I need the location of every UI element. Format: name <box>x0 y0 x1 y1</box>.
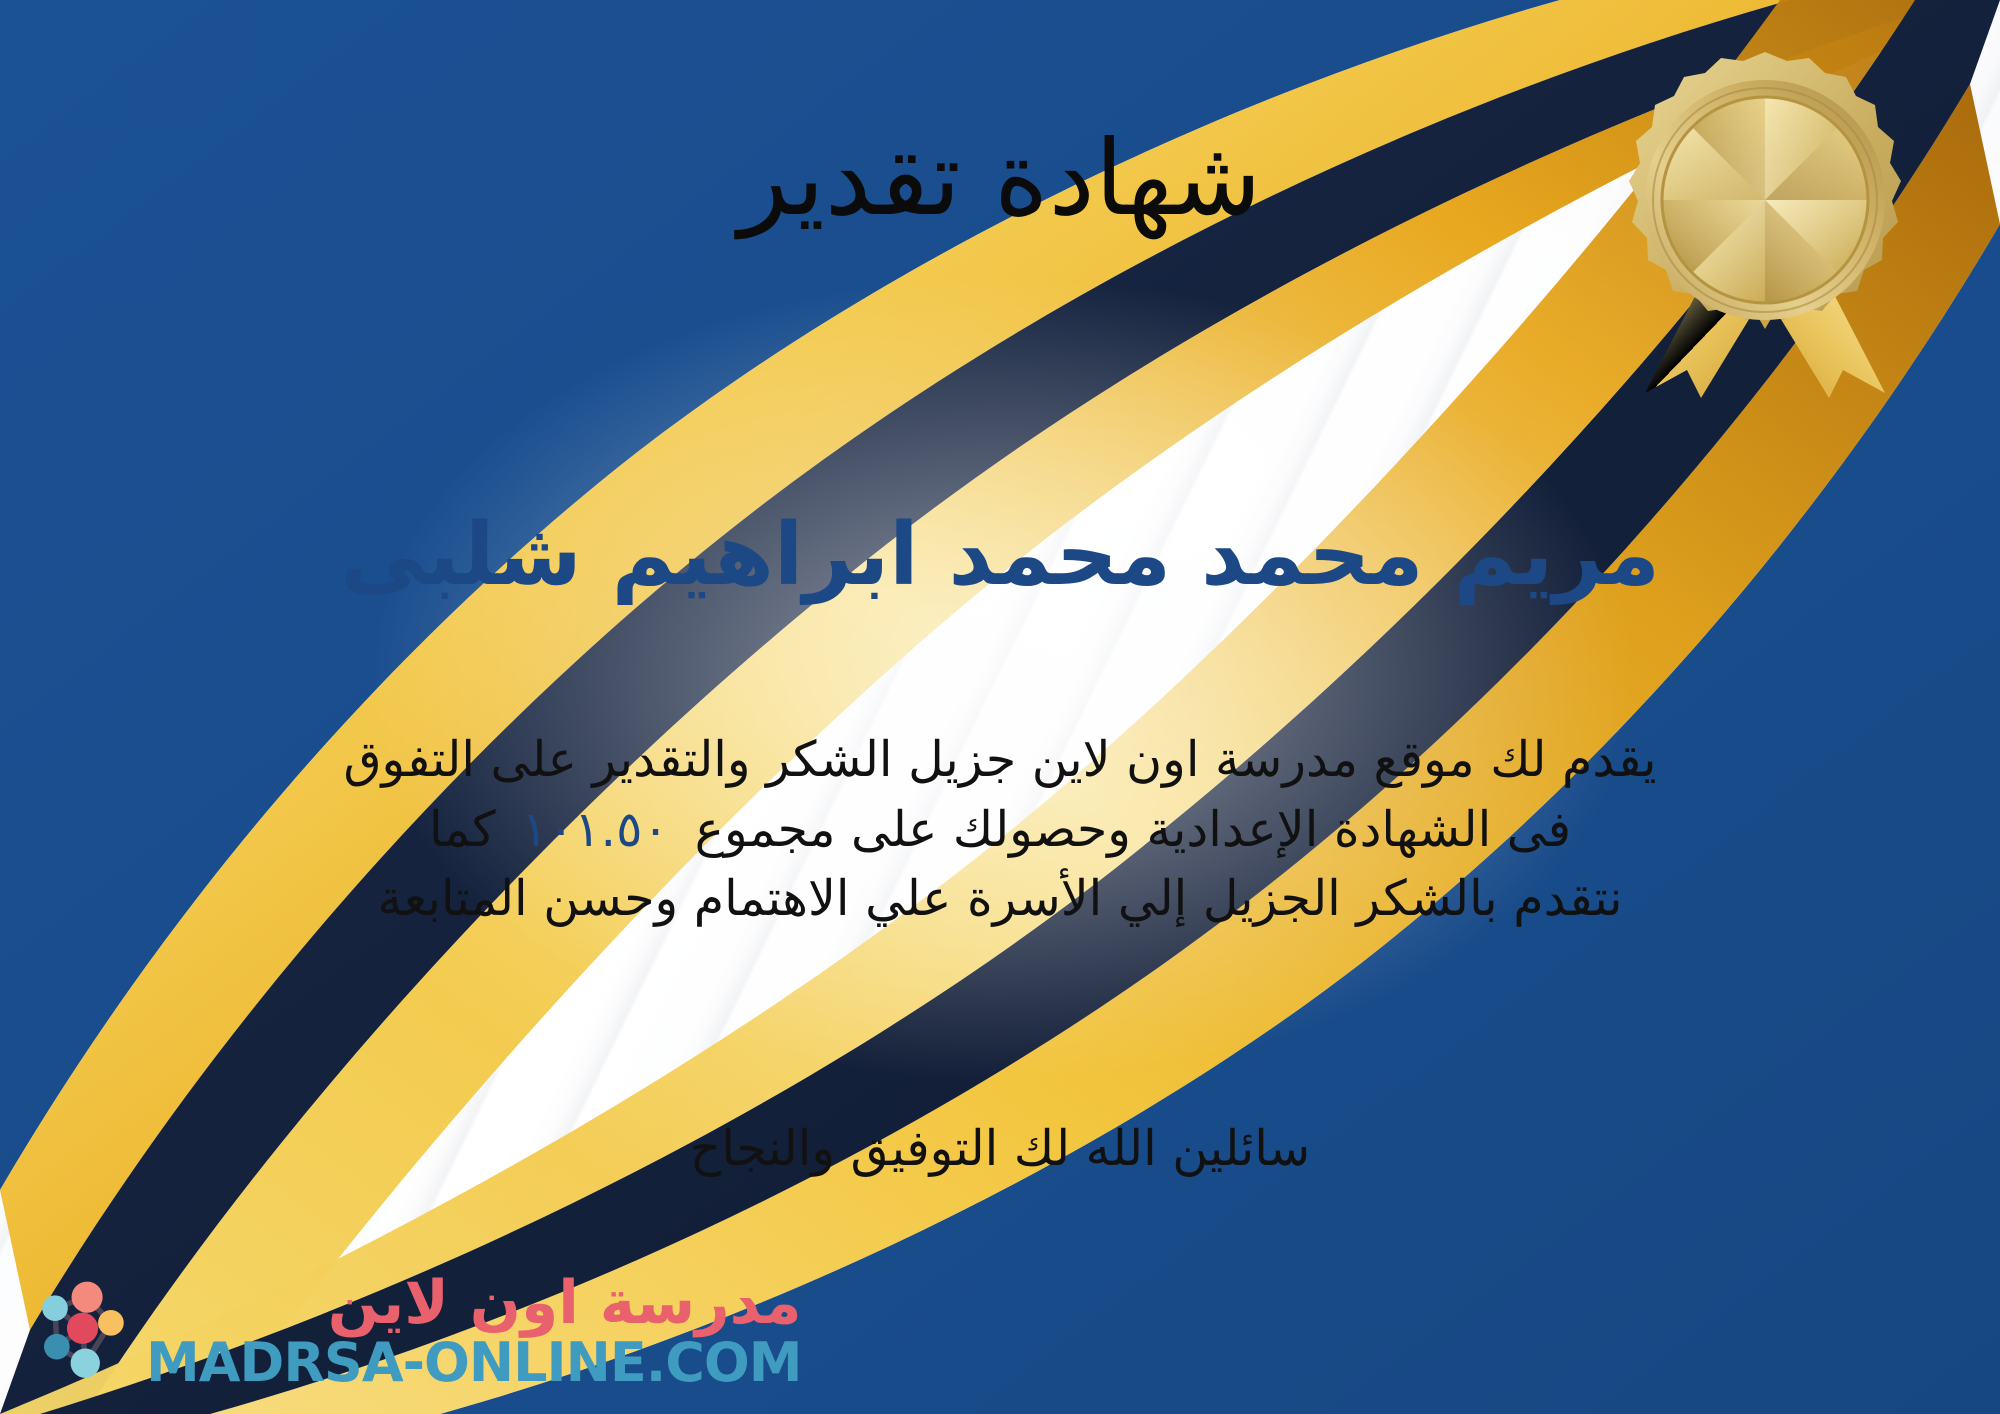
network-nodes-icon <box>22 1277 132 1387</box>
certificate-content: شهادة تقدير مريم محمد محمد ابراهيم شلبى … <box>0 0 2000 1414</box>
body-line-2-suffix: كما <box>429 801 496 858</box>
site-logo[interactable]: مدرسة اون لاين MADRSA-ONLINE.COM <box>22 1272 802 1392</box>
certificate-body: يقدم لك موقع مدرسة اون لاين جزيل الشكر و… <box>60 725 1940 934</box>
certificate-canvas: شهادة تقدير مريم محمد محمد ابراهيم شلبى … <box>0 0 2000 1414</box>
body-line-3: نتقدم بالشكر الجزيل إلي الأسرة علي الاهت… <box>60 864 1940 934</box>
body-line-2: فى الشهادة الإعدادية وحصولك على مجموع١٠١… <box>60 795 1940 865</box>
logo-wordmark: مدرسة اون لاين MADRSA-ONLINE.COM <box>146 1272 802 1392</box>
closing-wish: سائلين الله لك التوفيق والنجاح <box>0 1120 2000 1177</box>
total-score-value: ١٠١.٥٠ <box>496 801 695 858</box>
page-title: شهادة تقدير <box>0 120 2000 236</box>
logo-arabic-name: مدرسة اون لاين <box>328 1272 802 1335</box>
recipient-name: مريم محمد محمد ابراهيم شلبى <box>0 505 2000 606</box>
logo-domain: MADRSA-ONLINE.COM <box>146 1335 802 1392</box>
body-line-1: يقدم لك موقع مدرسة اون لاين جزيل الشكر و… <box>60 725 1940 795</box>
body-line-2-prefix: فى الشهادة الإعدادية وحصولك على مجموع <box>695 801 1571 858</box>
